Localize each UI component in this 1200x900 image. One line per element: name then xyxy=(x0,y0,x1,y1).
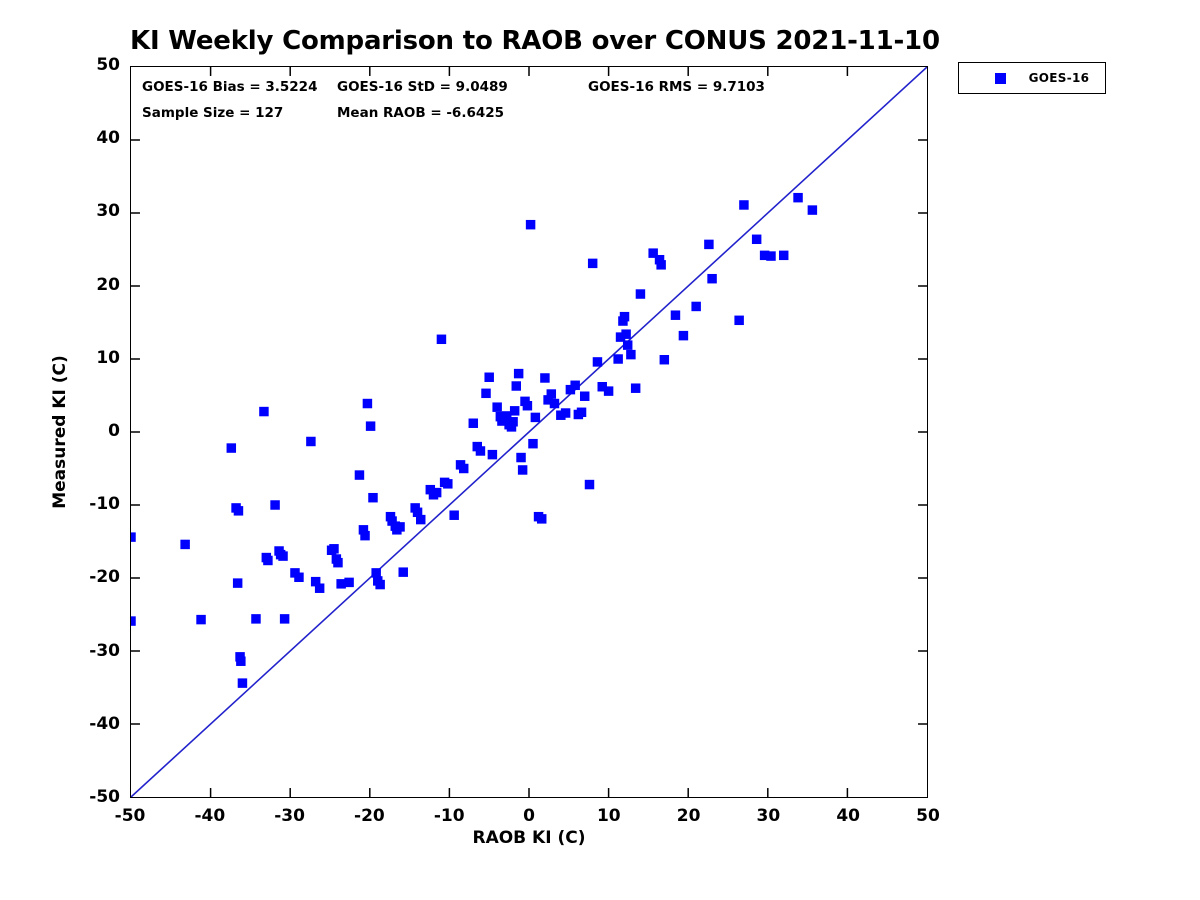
y-tick-label-2: -30 xyxy=(60,641,120,661)
data-point xyxy=(180,540,189,549)
data-point xyxy=(355,470,364,479)
x-tick-label-6: 10 xyxy=(579,806,639,826)
data-point xyxy=(585,480,594,489)
data-point xyxy=(270,500,279,509)
data-point xyxy=(294,573,303,582)
data-point xyxy=(516,453,525,462)
legend: GOES-16 xyxy=(958,62,1106,94)
stat-annotation-3: Sample Size = 127 xyxy=(142,105,283,121)
data-point xyxy=(131,532,136,541)
data-point xyxy=(233,578,242,587)
data-point xyxy=(752,235,761,244)
data-point xyxy=(131,616,136,625)
data-point xyxy=(660,355,669,364)
stat-annotation-4: Mean RAOB = -6.6425 xyxy=(337,105,504,121)
legend-swatch-goes-16 xyxy=(995,73,1006,84)
data-point xyxy=(432,488,441,497)
data-point xyxy=(315,583,324,592)
x-tick-label-3: -20 xyxy=(339,806,399,826)
y-tick-label-3: -20 xyxy=(60,567,120,587)
data-point xyxy=(531,413,540,422)
data-point xyxy=(593,357,602,366)
data-point xyxy=(626,350,635,359)
data-point xyxy=(395,522,404,531)
data-point xyxy=(510,406,519,415)
data-point xyxy=(561,408,570,417)
y-tick-label-9: 40 xyxy=(60,128,120,148)
data-point xyxy=(492,402,501,411)
y-tick-label-0: -50 xyxy=(60,787,120,807)
page-title: KI Weekly Comparison to RAOB over CONUS … xyxy=(130,26,928,56)
scatter-plot-figure: KI Weekly Comparison to RAOB over CONUS … xyxy=(0,0,1200,900)
y-tick-label-1: -40 xyxy=(60,714,120,734)
one-to-one-line xyxy=(131,67,927,797)
x-tick-label-9: 40 xyxy=(818,806,878,826)
data-point xyxy=(620,312,629,321)
data-point xyxy=(488,450,497,459)
data-point xyxy=(484,373,493,382)
data-point xyxy=(375,580,384,589)
stat-annotation-0: GOES-16 Bias = 3.5224 xyxy=(142,79,317,95)
data-point xyxy=(636,289,645,298)
x-tick-label-10: 50 xyxy=(898,806,958,826)
data-point xyxy=(691,302,700,311)
y-tick-label-7: 20 xyxy=(60,275,120,295)
data-point xyxy=(227,443,236,452)
data-point xyxy=(508,417,517,426)
data-point xyxy=(604,386,613,395)
data-point xyxy=(344,578,353,587)
data-point xyxy=(550,399,559,408)
data-point xyxy=(631,383,640,392)
x-tick-label-5: 0 xyxy=(499,806,559,826)
data-point xyxy=(671,310,680,319)
data-point xyxy=(808,205,817,214)
data-point xyxy=(263,556,272,565)
data-point xyxy=(363,399,372,408)
y-tick-label-10: 50 xyxy=(60,55,120,75)
data-point xyxy=(528,439,537,448)
data-point xyxy=(512,381,521,390)
data-point xyxy=(570,381,579,390)
y-tick-label-8: 30 xyxy=(60,201,120,221)
x-tick-label-7: 20 xyxy=(659,806,719,826)
data-point xyxy=(366,421,375,430)
data-point xyxy=(360,531,369,540)
data-point xyxy=(333,558,342,567)
data-point xyxy=(280,614,289,623)
data-point xyxy=(238,678,247,687)
x-tick-label-2: -30 xyxy=(260,806,320,826)
data-point xyxy=(251,614,260,623)
data-point xyxy=(443,479,452,488)
data-point xyxy=(514,369,523,378)
stat-annotation-2: GOES-16 RMS = 9.7103 xyxy=(588,79,765,95)
plot-canvas xyxy=(131,67,927,797)
data-point xyxy=(621,329,630,338)
x-tick-label-8: 30 xyxy=(738,806,798,826)
data-point xyxy=(540,373,549,382)
x-tick-label-4: -10 xyxy=(419,806,479,826)
data-point xyxy=(481,389,490,398)
data-point xyxy=(547,389,556,398)
data-point xyxy=(779,251,788,260)
x-axis-label: RAOB KI (C) xyxy=(130,828,928,848)
data-point xyxy=(656,260,665,269)
data-point xyxy=(613,354,622,363)
data-point xyxy=(523,401,532,410)
x-tick-label-0: -50 xyxy=(100,806,160,826)
data-point xyxy=(734,316,743,325)
data-point xyxy=(707,274,716,283)
data-point xyxy=(278,551,287,560)
data-point xyxy=(739,200,748,209)
data-point xyxy=(329,544,338,553)
data-point xyxy=(766,251,775,260)
data-point xyxy=(537,514,546,523)
plot-area xyxy=(130,66,928,798)
data-points-group xyxy=(131,193,817,688)
stat-annotation-1: GOES-16 StD = 9.0489 xyxy=(337,79,508,95)
data-point xyxy=(196,615,205,624)
data-point xyxy=(704,240,713,249)
data-point xyxy=(580,391,589,400)
data-point xyxy=(623,340,632,349)
data-point xyxy=(259,407,268,416)
data-point xyxy=(518,465,527,474)
data-point xyxy=(588,259,597,268)
data-point xyxy=(526,220,535,229)
data-point xyxy=(398,567,407,576)
data-point xyxy=(793,193,802,202)
legend-label-goes-16: GOES-16 xyxy=(1019,71,1099,85)
y-axis-label: Measured KI (C) xyxy=(50,332,70,532)
data-point xyxy=(459,464,468,473)
data-point xyxy=(437,335,446,344)
data-point xyxy=(234,506,243,515)
data-point xyxy=(679,331,688,340)
data-point xyxy=(306,437,315,446)
data-point xyxy=(416,515,425,524)
data-point xyxy=(236,656,245,665)
x-tick-label-1: -40 xyxy=(180,806,240,826)
data-point xyxy=(577,408,586,417)
data-point xyxy=(449,510,458,519)
data-point xyxy=(368,493,377,502)
data-point xyxy=(469,419,478,428)
data-point xyxy=(476,446,485,455)
